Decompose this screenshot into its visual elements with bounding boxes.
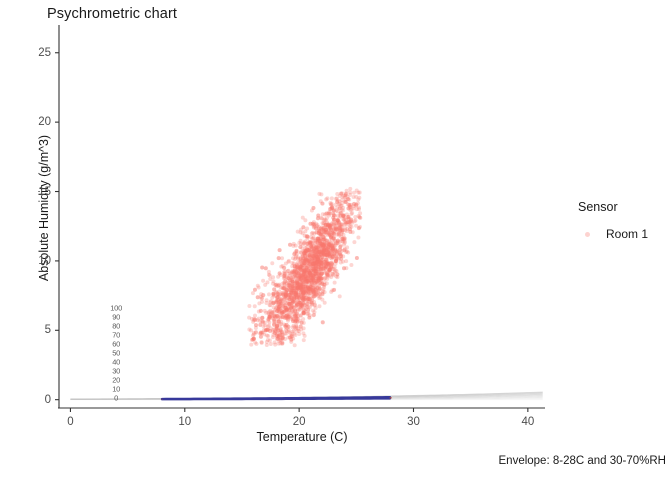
envelope-curve-rh-30 bbox=[162, 399, 390, 400]
plot-panel bbox=[0, 0, 672, 480]
comfort-envelope-group bbox=[162, 397, 391, 399]
scatter-points-group bbox=[247, 187, 362, 347]
rh-gridline-label-0: 0 bbox=[114, 394, 118, 403]
x-tick-label-10: 10 bbox=[178, 416, 191, 428]
rh-gridline-label-80: 80 bbox=[112, 322, 120, 331]
chart-caption: Envelope: 8-28C and 30-70%RH bbox=[499, 455, 667, 467]
legend: Sensor Room 1 bbox=[578, 200, 670, 243]
legend-item-label: Room 1 bbox=[606, 227, 648, 241]
y-tick-label-10: 10 bbox=[23, 255, 51, 267]
psychrometric-chart: Psychrometric chart Absolute Humidity (g… bbox=[0, 0, 672, 480]
x-tick-label-30: 30 bbox=[407, 416, 420, 428]
rh-gridline-label-50: 50 bbox=[112, 349, 120, 358]
x-tick-label-20: 20 bbox=[293, 416, 306, 428]
rh-gridline-label-10: 10 bbox=[112, 385, 120, 394]
legend-item-room-1[interactable]: Room 1 bbox=[578, 225, 670, 243]
legend-title: Sensor bbox=[578, 200, 670, 214]
rh-gridline-label-30: 30 bbox=[112, 367, 120, 376]
rh-gridline-label-90: 90 bbox=[112, 313, 120, 322]
legend-key-icon bbox=[578, 225, 596, 243]
y-tick-label-20: 20 bbox=[23, 116, 51, 128]
rh-gridline-label-40: 40 bbox=[112, 358, 120, 367]
x-tick-label-40: 40 bbox=[521, 416, 534, 428]
legend-point-marker bbox=[585, 232, 590, 237]
y-tick-label-25: 25 bbox=[23, 47, 51, 59]
rh-gridline-label-100: 100 bbox=[110, 304, 122, 313]
x-tick-label-0: 0 bbox=[67, 416, 73, 428]
y-tick-label-0: 0 bbox=[23, 394, 51, 406]
scatter-point-cloud bbox=[247, 187, 362, 347]
y-tick-label-5: 5 bbox=[23, 324, 51, 336]
y-tick-label-15: 15 bbox=[23, 186, 51, 198]
rh-gridline-label-60: 60 bbox=[112, 340, 120, 349]
rh-gridline-label-70: 70 bbox=[112, 331, 120, 340]
axis-lines-group bbox=[55, 25, 545, 412]
rh-gridline-label-20: 20 bbox=[112, 376, 120, 385]
